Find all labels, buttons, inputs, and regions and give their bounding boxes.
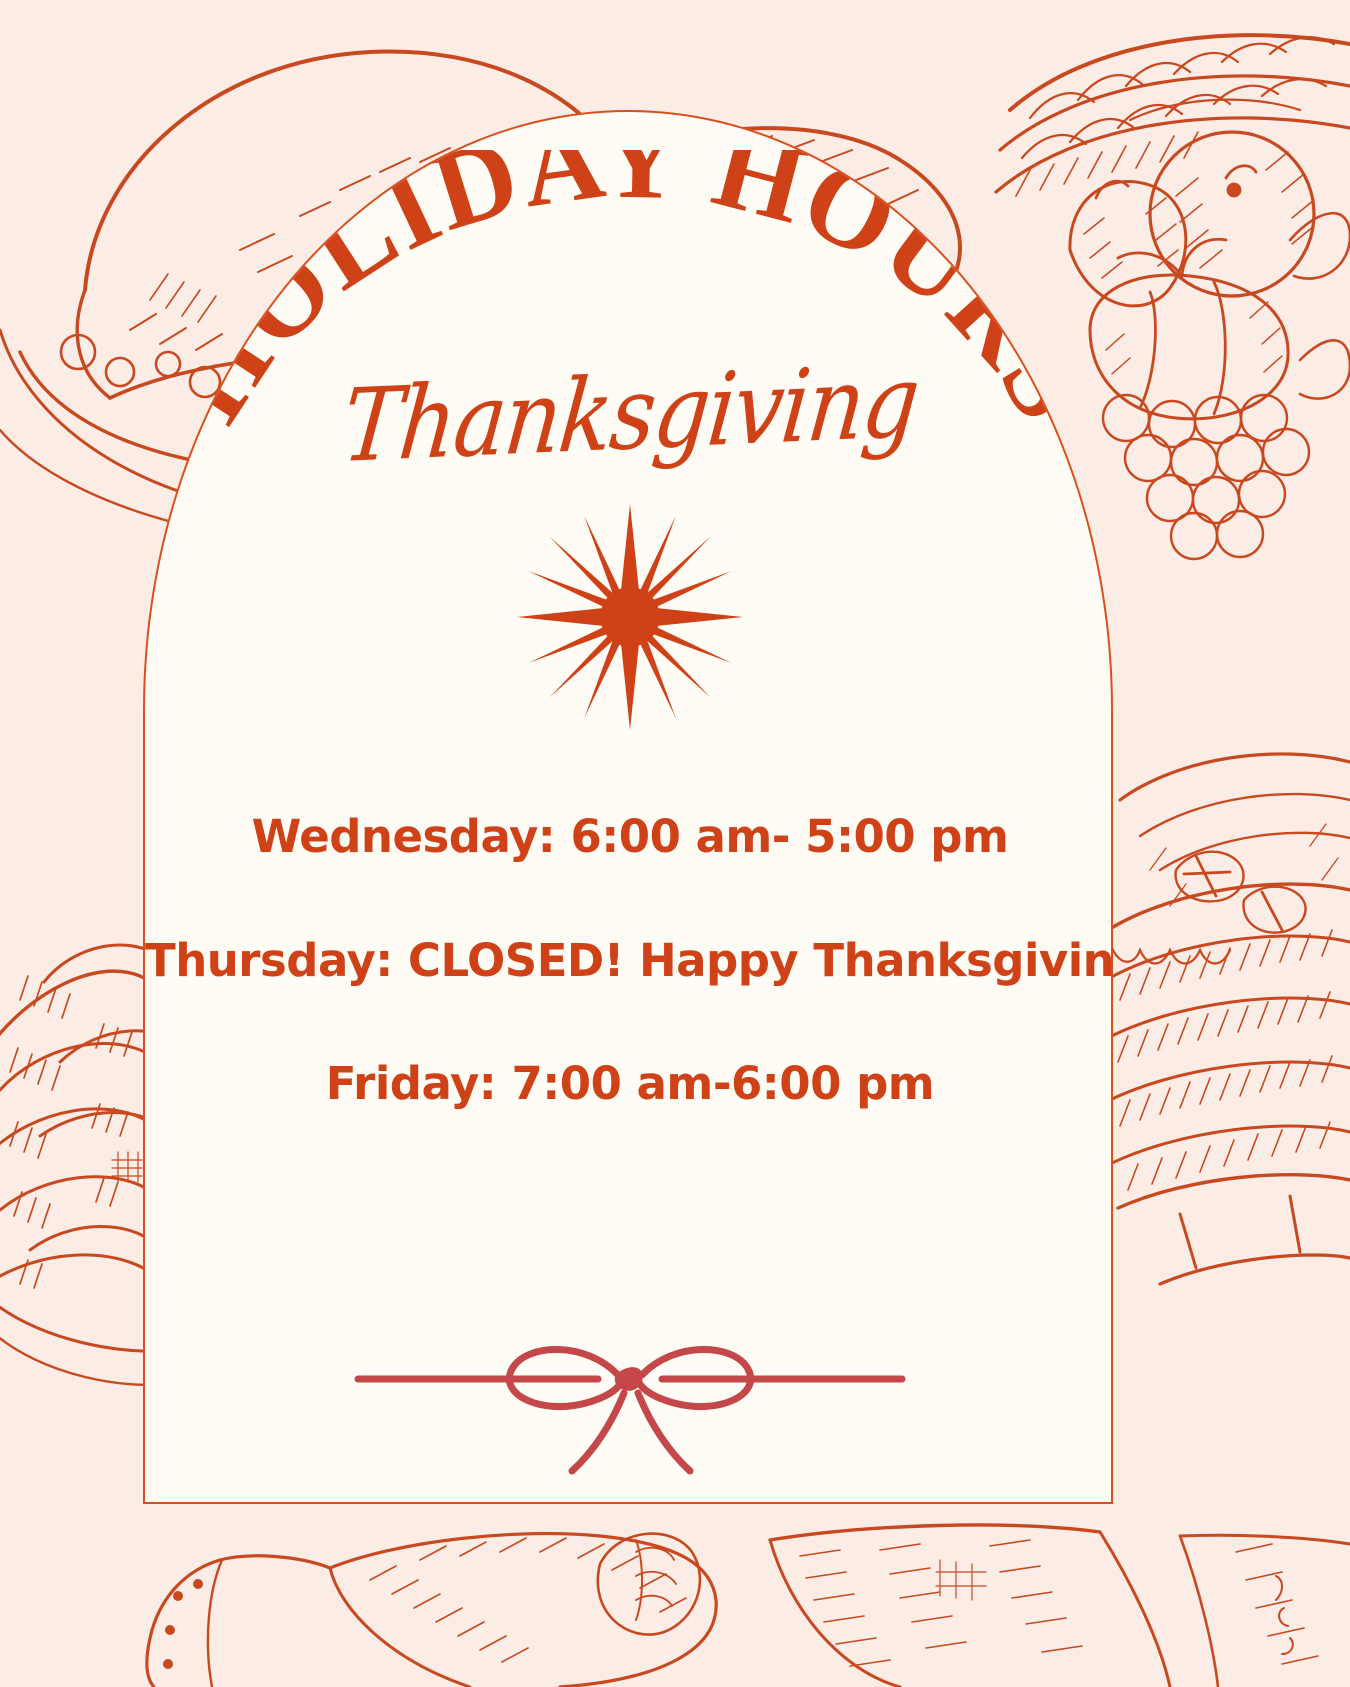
hours-list: Wednesday: 6:00 am- 5:00 pm Thursday: CL… [145, 812, 1113, 1109]
subtitle-script: Thanksgiving [337, 342, 922, 485]
hours-line-friday: Friday: 7:00 am-6:00 pm [145, 1059, 1113, 1109]
hours-line-thursday: Thursday: CLOSED! Happy Thanksgiving! [145, 936, 1113, 986]
carving-knife-board-illustration [147, 1525, 1350, 1687]
ribbon-bow-icon [350, 1317, 910, 1487]
layered-cake-illustration [1098, 754, 1350, 1284]
starburst-wrap [145, 502, 1113, 737]
headline-arc: HOLIDAY HOURS [145, 150, 1113, 550]
headline-arc-svg: HOLIDAY HOURS [145, 150, 1113, 550]
arch-card: HOLIDAY HOURS Thanksgiving [143, 110, 1113, 1504]
starburst-icon [515, 502, 745, 732]
subtitle-script-wrap: Thanksgiving [145, 362, 1113, 465]
hours-line-wednesday: Wednesday: 6:00 am- 5:00 pm [145, 812, 1113, 862]
holiday-hours-poster: HOLIDAY HOURS Thanksgiving [0, 0, 1350, 1687]
bow-divider-wrap [145, 1317, 1113, 1492]
